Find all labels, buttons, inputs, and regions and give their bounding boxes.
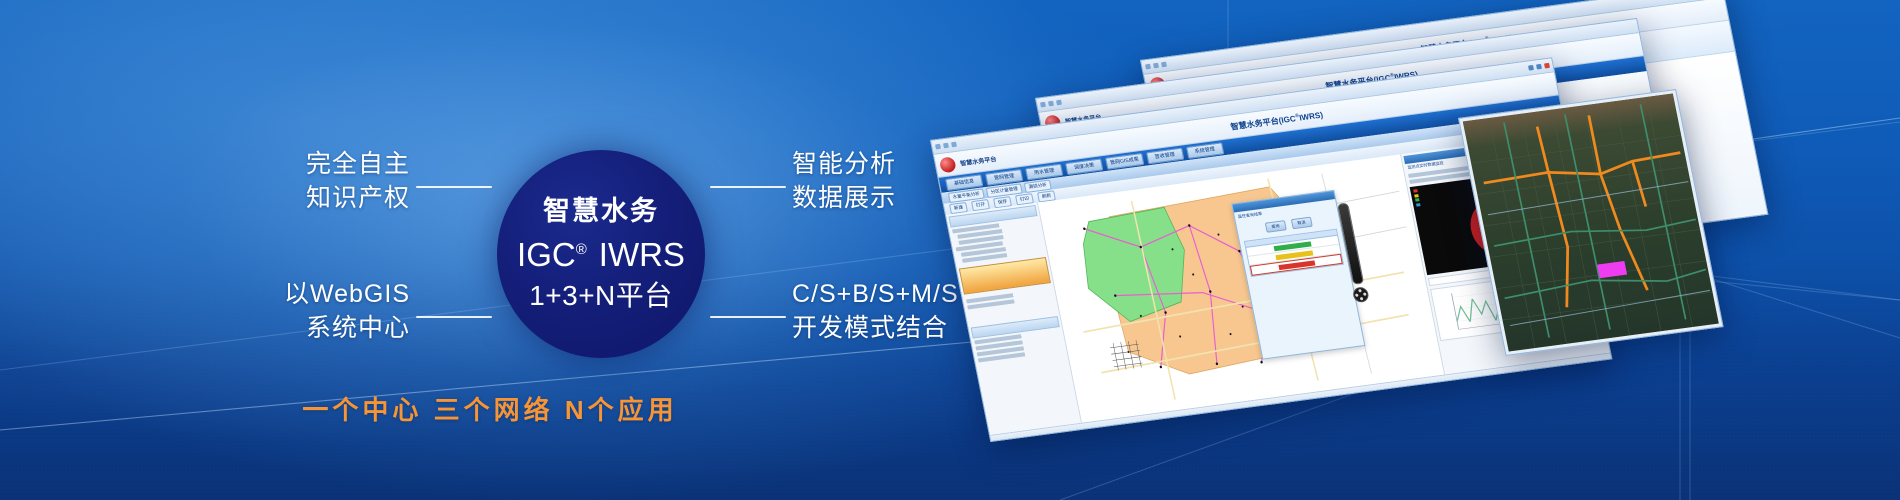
window-control-icon[interactable] [1145, 64, 1151, 70]
close-icon[interactable] [1544, 63, 1550, 69]
feature-bottom-left: 以WebGIS 系统中心 [160, 278, 410, 345]
hub-product-suffix: IWRS [599, 236, 685, 273]
taskbar-item[interactable] [1024, 438, 1051, 442]
dialog-result-table[interactable] [1244, 229, 1345, 277]
minimize-icon[interactable] [1528, 65, 1534, 71]
gis-map-svg [1038, 155, 1444, 423]
taskbar-item[interactable] [1053, 434, 1080, 442]
feature-top-right-line1: 智能分析 [792, 150, 896, 178]
feature-bottom-left-line1: 以WebGIS [284, 280, 410, 308]
banner-stage: 智慧水务 IGC®IWRS 1+3+N平台 完全自主 知识产权 智能分析 数据展… [0, 0, 1900, 500]
window-control-icon[interactable] [1056, 100, 1062, 106]
hub-product-prefix: IGC [517, 236, 576, 273]
window-control-icon[interactable] [1153, 63, 1159, 69]
connector-bottom-left [416, 316, 492, 318]
connector-top-right [710, 186, 786, 188]
feature-top-left: 完全自主 知识产权 [180, 148, 410, 215]
window-control-icon[interactable] [1040, 102, 1046, 108]
dialog-query-button[interactable]: 查询 [1265, 221, 1287, 234]
connector-bottom-right [710, 316, 786, 318]
hub-platform: 1+3+N平台 [529, 282, 673, 310]
maximize-icon[interactable] [1536, 64, 1542, 70]
hub-title: 智慧水务 [543, 198, 659, 225]
registered-mark-icon: ® [576, 241, 587, 258]
feature-top-left-line1: 完全自主 [306, 150, 410, 178]
feature-bottom-left-line2: 系统中心 [160, 312, 410, 346]
satellite-map-window[interactable] [1458, 89, 1724, 356]
company-logo-icon [939, 156, 957, 173]
hub-product: IGC®IWRS [517, 238, 685, 271]
connector-top-left [416, 186, 492, 188]
feature-bottom-right-line1: C/S+B/S+M/S [792, 280, 959, 308]
window-control-icon[interactable] [943, 143, 949, 149]
tagline: 一个中心 三个网络 N个应用 [0, 390, 980, 427]
logo-text: 智慧水务平台 [959, 153, 997, 167]
window-control-icon[interactable] [1161, 62, 1167, 68]
window-control-icon[interactable] [951, 142, 957, 148]
window-control-icon[interactable] [935, 144, 941, 150]
window-control-icon[interactable] [1048, 101, 1054, 107]
feature-top-left-line2: 知识产权 [180, 182, 410, 216]
hub-circle: 智慧水务 IGC®IWRS 1+3+N平台 [497, 150, 705, 358]
gis-map-canvas[interactable]: 属性查询结果 查询 取消 [1038, 155, 1444, 423]
concept-diagram: 智慧水务 IGC®IWRS 1+3+N平台 完全自主 知识产权 智能分析 数据展… [0, 0, 980, 500]
satellite-map-svg [1463, 94, 1719, 352]
satellite-map-canvas[interactable] [1463, 94, 1719, 352]
dialog-cancel-button[interactable]: 取消 [1291, 217, 1313, 230]
